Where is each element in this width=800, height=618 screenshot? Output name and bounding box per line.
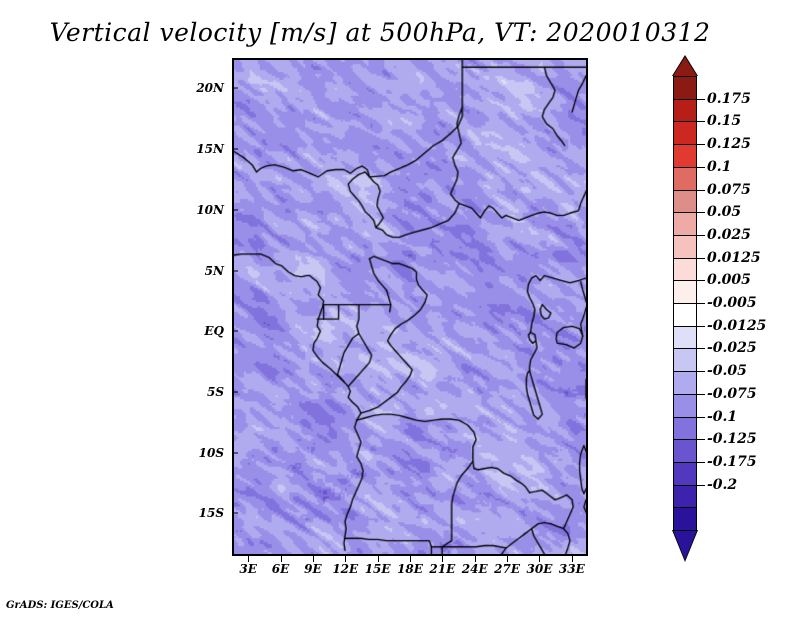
colorbar-tick-mark (697, 190, 705, 191)
lat-tick-mark (232, 392, 238, 393)
colorbar-tick-mark (697, 348, 705, 349)
colorbar-tick-label: -0.175 (707, 454, 757, 470)
colorbar-tick-mark (697, 303, 705, 304)
lat-tick-mark (232, 270, 238, 271)
lon-tick-mark (410, 556, 411, 562)
colorbar-band (673, 462, 697, 486)
lat-tick-label: 5S (207, 385, 224, 399)
colorbar-band (673, 235, 697, 259)
colorbar-band (673, 121, 697, 145)
colorbar-band (673, 371, 697, 395)
colorbar-tick-label: 0.0125 (707, 250, 761, 266)
page-title: Vertical velocity [m/s] at 500hPa, VT: 2… (0, 18, 760, 47)
lon-tick-label: 24E (462, 562, 488, 576)
lon-tick-mark (539, 556, 540, 562)
colorbar-tick-mark (697, 99, 705, 100)
colorbar-tick-label: 0.025 (707, 227, 751, 243)
colorbar-bottom-arrow-icon (673, 530, 697, 560)
colorbar-tick-mark (697, 485, 705, 486)
colorbar-tick-mark (697, 280, 705, 281)
colorbar-tick-label: -0.05 (707, 363, 747, 379)
colorbar-tick-mark (697, 439, 705, 440)
colorbar-top-arrow-icon (673, 57, 697, 76)
vertical-velocity-heatmap (234, 60, 586, 554)
colorbar-band (673, 485, 697, 509)
lon-tick-mark (475, 556, 476, 562)
lon-tick-label: 12E (332, 562, 358, 576)
colorbar-band (673, 258, 697, 282)
colorbar-band (673, 76, 697, 100)
footer-credit: GrADS: IGES/COLA (6, 600, 114, 611)
lon-tick-label: 33E (559, 562, 585, 576)
lat-tick-mark (232, 513, 238, 514)
colorbar-tick-label: 0.075 (707, 182, 751, 198)
lat-tick-label: 10S (199, 446, 224, 460)
colorbar-tick-mark (697, 212, 705, 213)
colorbar-band (673, 326, 697, 350)
lon-tick-label: 9E (304, 562, 322, 576)
lat-tick-mark (232, 209, 238, 210)
lon-tick-label: 30E (527, 562, 553, 576)
colorbar-tick-mark (697, 258, 705, 259)
colorbar-band (673, 167, 697, 191)
colorbar-tick-label: 0.1 (707, 159, 731, 175)
colorbar-band (673, 507, 697, 531)
lon-tick-mark (345, 556, 346, 562)
colorbar-band (673, 190, 697, 214)
lon-tick-mark (442, 556, 443, 562)
lon-tick-label: 15E (365, 562, 391, 576)
colorbar-tick-label: -0.025 (707, 340, 757, 356)
colorbar-tick-label: 0.05 (707, 204, 741, 220)
colorbar-tick-label: -0.1 (707, 409, 737, 425)
colorbar-band (673, 303, 697, 327)
colorbar-band (673, 99, 697, 123)
colorbar-tick-mark (697, 394, 705, 395)
colorbar-band (673, 144, 697, 168)
colorbar-tick-label: -0.2 (707, 477, 737, 493)
lat-tick-mark (232, 331, 238, 332)
lat-tick-label: 10N (196, 203, 224, 217)
colorbar-tick-mark (697, 167, 705, 168)
lat-tick-mark (232, 452, 238, 453)
lat-tick-label: 15S (199, 506, 224, 520)
lat-tick-label: 20N (196, 81, 224, 95)
colorbar-tick-label: 0.15 (707, 113, 741, 129)
colorbar-band (673, 417, 697, 441)
lon-tick-mark (281, 556, 282, 562)
lat-tick-mark (232, 149, 238, 150)
lon-tick-mark (572, 556, 573, 562)
lat-tick-label: 15N (196, 142, 224, 156)
colorbar-band (673, 439, 697, 463)
lon-tick-mark (507, 556, 508, 562)
lon-tick-mark (248, 556, 249, 562)
lon-tick-label: 6E (272, 562, 290, 576)
colorbar-tick-label: -0.0125 (707, 318, 766, 334)
lat-tick-label: EQ (204, 324, 224, 338)
colorbar-tick-mark (697, 144, 705, 145)
lon-tick-label: 18E (397, 562, 423, 576)
colorbar-band (673, 280, 697, 304)
colorbar (673, 76, 697, 530)
colorbar-tick-mark (697, 462, 705, 463)
colorbar-tick-mark (697, 326, 705, 327)
colorbar-tick-label: 0.005 (707, 272, 751, 288)
colorbar-tick-mark (697, 417, 705, 418)
lon-tick-mark (313, 556, 314, 562)
colorbar-band (673, 212, 697, 236)
lon-tick-label: 27E (494, 562, 520, 576)
lon-tick-label: 21E (429, 562, 455, 576)
colorbar-tick-mark (697, 235, 705, 236)
colorbar-tick-mark (697, 121, 705, 122)
latitude-axis: 20N15N10N5NEQ5S10S15S (180, 0, 224, 618)
lon-tick-mark (378, 556, 379, 562)
colorbar-tick-mark (697, 371, 705, 372)
map-plot-area (232, 58, 588, 556)
colorbar-tick-label: -0.075 (707, 386, 757, 402)
colorbar-tick-label: -0.005 (707, 295, 757, 311)
colorbar-tick-label: 0.175 (707, 91, 751, 107)
colorbar-tick-label: -0.125 (707, 431, 757, 447)
colorbar-band (673, 394, 697, 418)
lat-tick-label: 5N (205, 264, 224, 278)
colorbar-band (673, 348, 697, 372)
lon-tick-label: 3E (239, 562, 257, 576)
colorbar-tick-label: 0.125 (707, 136, 751, 152)
lat-tick-mark (232, 88, 238, 89)
